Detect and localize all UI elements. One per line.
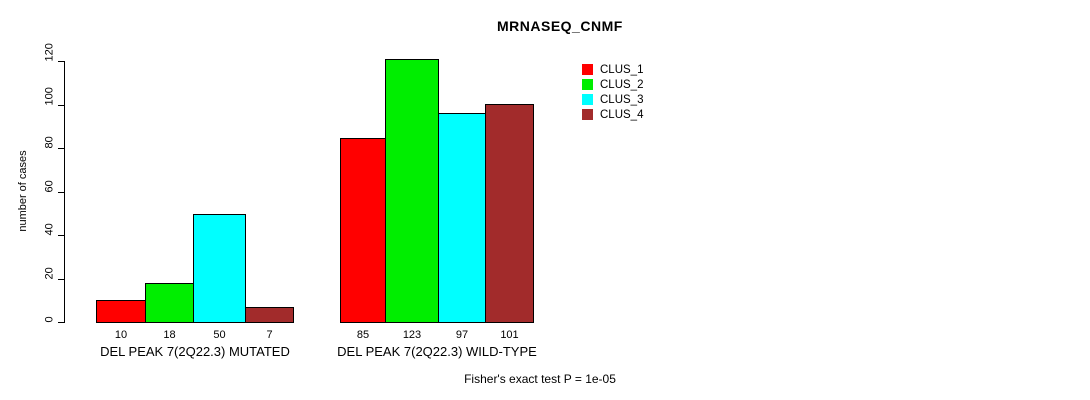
bar-value-g2-clus1: 85 <box>340 329 386 341</box>
bar-value-g2-clus2: 123 <box>385 329 439 341</box>
bar-value-g2-clus4: 101 <box>485 329 534 341</box>
bar-value-g1-clus3: 50 <box>193 329 246 341</box>
y-tick-60 <box>58 192 64 193</box>
bar-g1-clus2[interactable] <box>145 283 194 323</box>
legend-label-clus3: CLUS_3 <box>600 94 643 106</box>
y-tick-100 <box>58 105 64 106</box>
legend-label-clus2: CLUS_2 <box>600 79 643 91</box>
legend-label-clus4: CLUS_4 <box>600 109 643 121</box>
y-tick-0 <box>58 322 64 323</box>
bar-g2-clus2[interactable] <box>385 59 439 323</box>
legend-swatch-icon-clus1 <box>582 64 593 75</box>
legend-item-clus4[interactable]: CLUS_4 <box>582 107 643 122</box>
bar-chart-figure: MRNASEQ_CNMF 0 20 40 60 80 100 120 numbe… <box>0 0 1090 400</box>
bar-g1-clus3[interactable] <box>193 214 246 323</box>
legend-item-clus2[interactable]: CLUS_2 <box>582 77 643 92</box>
bar-g2-clus4[interactable] <box>485 104 534 323</box>
y-tick-20 <box>58 279 64 280</box>
legend-swatch-icon-clus3 <box>582 94 593 105</box>
legend-swatch-icon-clus4 <box>582 109 593 120</box>
y-tick-120 <box>58 61 64 62</box>
fisher-test-annotation: Fisher's exact test P = 1e-05 <box>330 372 750 386</box>
legend-item-clus3[interactable]: CLUS_3 <box>582 92 643 107</box>
bar-value-g1-clus2: 18 <box>145 329 194 341</box>
legend: CLUS_1 CLUS_2 CLUS_3 CLUS_4 <box>582 62 643 122</box>
y-tick-40 <box>58 235 64 236</box>
bar-g2-clus1[interactable] <box>340 138 386 323</box>
bar-g1-clus1[interactable] <box>96 300 146 323</box>
legend-item-clus1[interactable]: CLUS_1 <box>582 62 643 77</box>
y-axis-line <box>64 61 65 323</box>
legend-label-clus1: CLUS_1 <box>600 64 643 76</box>
bar-value-g1-clus1: 10 <box>96 329 146 341</box>
y-axis-title: number of cases <box>17 131 29 251</box>
bar-g1-clus4[interactable] <box>245 307 294 323</box>
bar-value-g2-clus3: 97 <box>438 329 486 341</box>
group-label-wildtype: DEL PEAK 7(2Q22.3) WILD-TYPE <box>287 344 587 359</box>
y-tick-80 <box>58 148 64 149</box>
bar-g2-clus3[interactable] <box>438 113 486 323</box>
legend-swatch-icon-clus2 <box>582 79 593 90</box>
bar-value-g1-clus4: 7 <box>245 329 294 341</box>
chart-title: MRNASEQ_CNMF <box>497 18 623 34</box>
